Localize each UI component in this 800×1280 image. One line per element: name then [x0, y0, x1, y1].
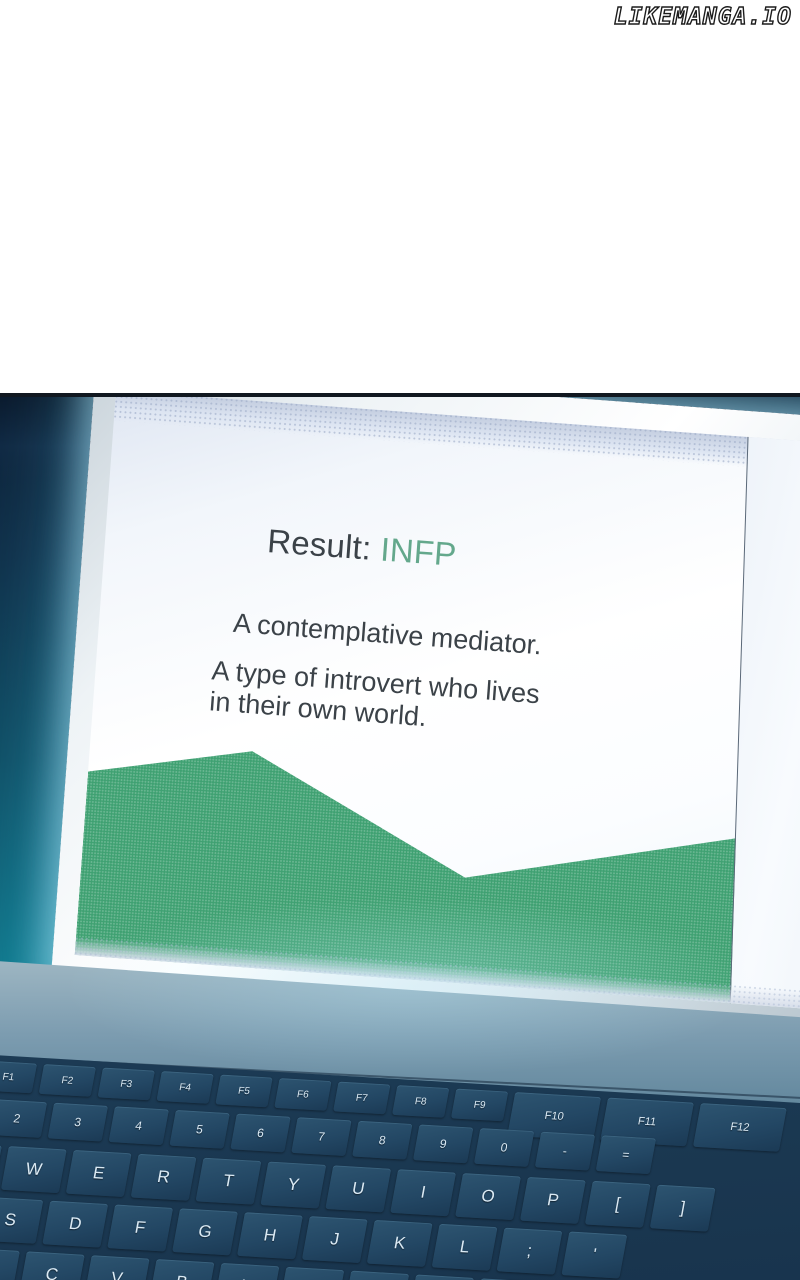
key-[interactable]: , [343, 1271, 409, 1280]
key-i[interactable]: I [390, 1169, 456, 1216]
result-label: Result: [266, 522, 373, 567]
laptop-lid: Result: INFP A contemplative mediator. A… [51, 393, 800, 1037]
key-d[interactable]: D [42, 1201, 108, 1248]
key-[interactable]: - [535, 1132, 595, 1171]
laptop-keyboard[interactable]: EscF1F2F3F4F5F6F7F8F9F10F11F12~123456789… [0, 1050, 800, 1280]
key-5[interactable]: 5 [169, 1110, 229, 1149]
result-description-rest: A type of introvert who lives in their o… [204, 655, 677, 752]
key-t[interactable]: T [196, 1158, 262, 1205]
key-l[interactable]: L [432, 1224, 498, 1271]
key-f[interactable]: F [107, 1205, 173, 1252]
result-value: INFP [379, 530, 457, 572]
key-k[interactable]: K [367, 1220, 433, 1267]
comic-panel: Result: INFP A contemplative mediator. A… [0, 393, 800, 1280]
key-[interactable]: [ [585, 1181, 651, 1228]
result-headline: Result: INFP [216, 518, 688, 590]
key-3[interactable]: 3 [48, 1103, 108, 1142]
key-g[interactable]: G [172, 1208, 238, 1255]
key-4[interactable]: 4 [109, 1106, 169, 1145]
key-6[interactable]: 6 [230, 1114, 290, 1153]
key-y[interactable]: Y [260, 1162, 326, 1209]
key-8[interactable]: 8 [352, 1121, 412, 1160]
key-[interactable]: . [408, 1274, 474, 1280]
key-2[interactable]: 2 [0, 1099, 47, 1138]
key-n[interactable]: N [214, 1263, 280, 1280]
key-[interactable]: ' [561, 1231, 627, 1278]
key-m[interactable]: M [278, 1267, 344, 1280]
laptop-screen[interactable]: Result: INFP A contemplative mediator. A… [75, 393, 800, 1009]
key-f8[interactable]: F8 [392, 1085, 449, 1118]
key-f4[interactable]: F4 [156, 1071, 213, 1104]
key-f5[interactable]: F5 [215, 1075, 272, 1108]
key-p[interactable]: P [520, 1177, 586, 1224]
key-f2[interactable]: F2 [39, 1064, 96, 1097]
result-text-block: Result: INFP A contemplative mediator. A… [204, 518, 687, 752]
key-f7[interactable]: F7 [333, 1082, 390, 1115]
key-s[interactable]: S [0, 1197, 43, 1244]
site-watermark: LIKEMANGA.IO [614, 4, 792, 30]
key-o[interactable]: O [455, 1173, 521, 1220]
key-f3[interactable]: F3 [98, 1068, 155, 1101]
key-h[interactable]: H [237, 1212, 303, 1259]
key-[interactable]: ] [650, 1185, 716, 1232]
key-x[interactable]: X [0, 1247, 20, 1280]
key-v[interactable]: V [84, 1255, 150, 1280]
key-f9[interactable]: F9 [451, 1089, 508, 1122]
key-c[interactable]: C [19, 1251, 85, 1280]
key-9[interactable]: 9 [413, 1124, 473, 1163]
key-f1[interactable]: F1 [0, 1061, 37, 1094]
panel-gutter [0, 0, 800, 393]
key-j[interactable]: J [302, 1216, 368, 1263]
key-0[interactable]: 0 [474, 1128, 534, 1167]
key-f12[interactable]: F12 [693, 1103, 787, 1152]
right-side-card [729, 401, 800, 1009]
key-e[interactable]: E [66, 1150, 132, 1197]
key-[interactable]: = [596, 1135, 656, 1174]
key-u[interactable]: U [325, 1165, 391, 1212]
key-f6[interactable]: F6 [274, 1078, 331, 1111]
key-r[interactable]: R [131, 1154, 197, 1201]
key-w[interactable]: W [1, 1146, 67, 1193]
key-[interactable]: ; [497, 1228, 563, 1275]
key-b[interactable]: B [149, 1259, 215, 1280]
key-7[interactable]: 7 [291, 1117, 351, 1156]
